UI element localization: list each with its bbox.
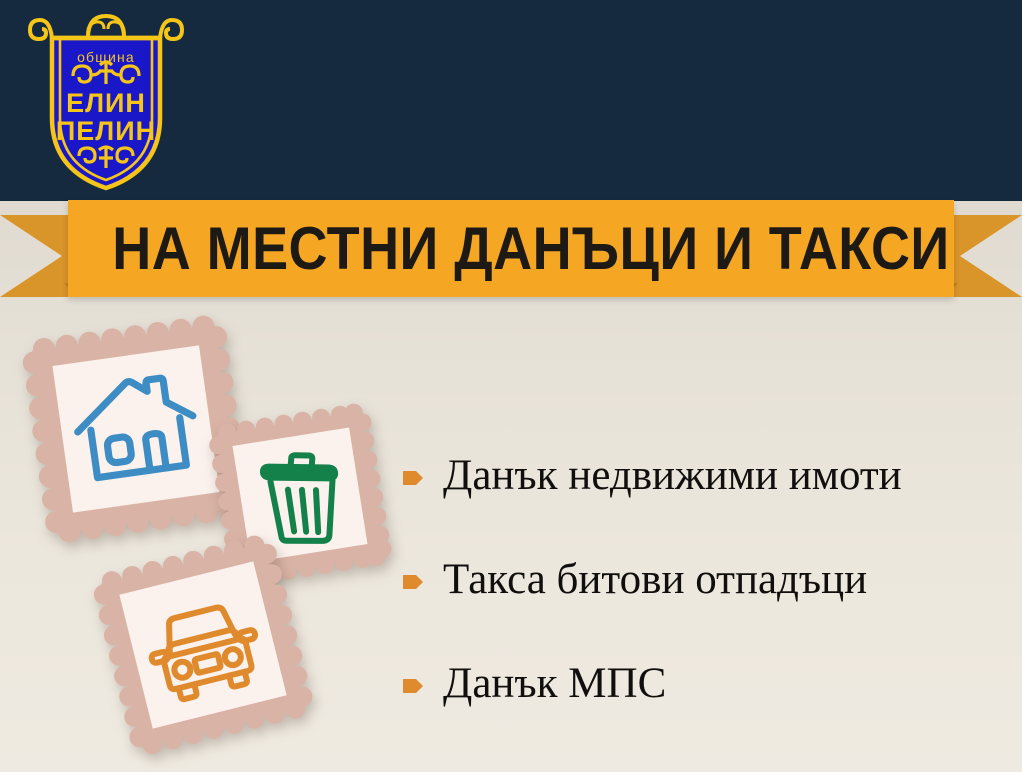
ribbon-banner: НА МЕСТНИ ДАНЪЦИ И ТАКСИ xyxy=(0,197,1022,303)
svg-text:ЕЛИН: ЕЛИН xyxy=(66,88,146,118)
arrow-bullet-icon xyxy=(400,673,426,699)
list-item-label: Данък недвижими имоти xyxy=(443,451,902,501)
poster-canvas: ПРОВЕРКА И ПЛАЩАНЕ НА ЗАДЪЛЖЕНИЯ община xyxy=(0,0,1022,772)
list-item[interactable]: Данък МПС xyxy=(400,632,1010,736)
arrow-bullet-icon xyxy=(400,569,426,595)
svg-text:ПЕЛИН: ПЕЛИН xyxy=(56,116,156,146)
coat-of-arms-icon: община ЕЛИН ПЕЛИН xyxy=(26,8,186,194)
list-item-label: Данък МПС xyxy=(443,659,666,709)
tax-services-list: Данък недвижими имоти Такса битови отпад… xyxy=(400,424,1010,736)
ribbon-main-panel: НА МЕСТНИ ДАНЪЦИ И ТАКСИ xyxy=(68,200,954,297)
arrow-bullet-icon xyxy=(400,465,426,491)
list-item-label: Такса битови отпадъци xyxy=(443,555,867,605)
list-item[interactable]: Данък недвижими имоти xyxy=(400,424,1010,528)
ribbon-subtitle: НА МЕСТНИ ДАНЪЦИ И ТАКСИ xyxy=(112,200,909,297)
stamp-card-car xyxy=(88,530,318,760)
list-item[interactable]: Такса битови отпадъци xyxy=(400,528,1010,632)
